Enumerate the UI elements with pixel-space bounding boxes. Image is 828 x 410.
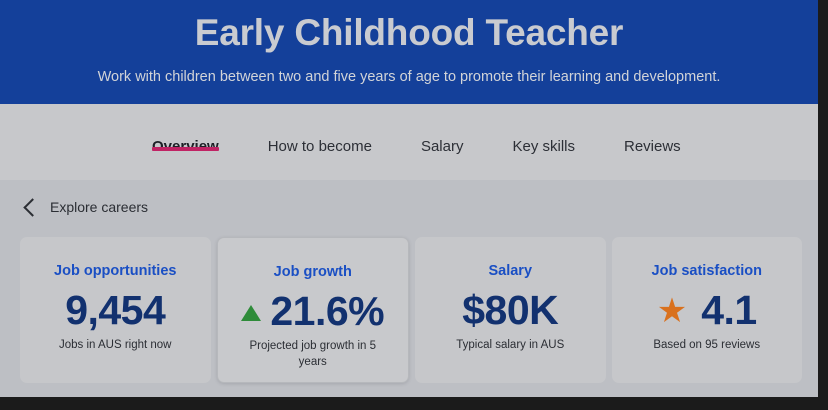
card-title: Job growth (218, 264, 409, 281)
card-caption: Typical salary in AUS (434, 338, 586, 353)
stat-card-grid: Job opportunities 9,454 Jobs in AUS righ… (20, 237, 802, 383)
stat-card-salary[interactable]: Salary $80K Typical salary in AUS (415, 237, 606, 383)
chevron-left-icon (23, 198, 41, 216)
up-triangle-icon (241, 305, 261, 321)
card-value: 21.6% (270, 291, 384, 332)
card-value: $80K (462, 290, 558, 331)
page-canvas: Early Childhood Teacher Work with childr… (0, 0, 818, 397)
tab-overview[interactable]: Overview (152, 104, 219, 155)
tab-label: Key skills (512, 138, 575, 155)
card-value-row: 21.6% (218, 288, 409, 334)
stat-card-job-satisfaction[interactable]: Job satisfaction ★ 4.1 Based on 95 revie… (612, 237, 803, 383)
breadcrumb-explore-careers[interactable]: Explore careers (26, 199, 148, 215)
window-frame-right (818, 0, 828, 397)
tab-list: Overview How to become Salary Key skills… (0, 104, 730, 180)
window-frame-bottom (0, 397, 828, 410)
star-icon: ★ (657, 294, 687, 328)
tab-salary[interactable]: Salary (421, 104, 464, 155)
card-title: Job satisfaction (612, 263, 803, 280)
tab-active-underline (152, 147, 219, 151)
tab-navigation: Overview How to become Salary Key skills… (0, 104, 818, 180)
tab-reviews[interactable]: Reviews (624, 104, 681, 155)
card-caption: Based on 95 reviews (631, 338, 783, 353)
card-title: Job opportunities (20, 263, 211, 280)
card-value: 4.1 (701, 290, 757, 331)
stat-card-job-growth[interactable]: Job growth 21.6% Projected job growth in… (217, 237, 410, 383)
page-subtitle: Work with children between two and five … (0, 68, 818, 87)
card-value-row: ★ 4.1 (612, 287, 803, 333)
card-value-row: 9,454 (20, 287, 211, 333)
breadcrumb-label: Explore careers (50, 199, 148, 215)
tab-label: Salary (421, 138, 464, 155)
tab-label: How to become (268, 138, 372, 155)
tab-key-skills[interactable]: Key skills (512, 104, 575, 155)
tab-label: Reviews (624, 138, 681, 155)
card-title: Salary (415, 263, 606, 280)
card-value: 9,454 (65, 290, 165, 331)
tab-how-to-become[interactable]: How to become (268, 104, 372, 155)
hero-header: Early Childhood Teacher Work with childr… (0, 0, 818, 104)
page-title: Early Childhood Teacher (0, 11, 818, 55)
card-caption: Projected job growth in 5 years (237, 339, 389, 369)
card-value-row: $80K (415, 287, 606, 333)
stat-card-job-opportunities[interactable]: Job opportunities 9,454 Jobs in AUS righ… (20, 237, 211, 383)
card-caption: Jobs in AUS right now (39, 338, 191, 353)
